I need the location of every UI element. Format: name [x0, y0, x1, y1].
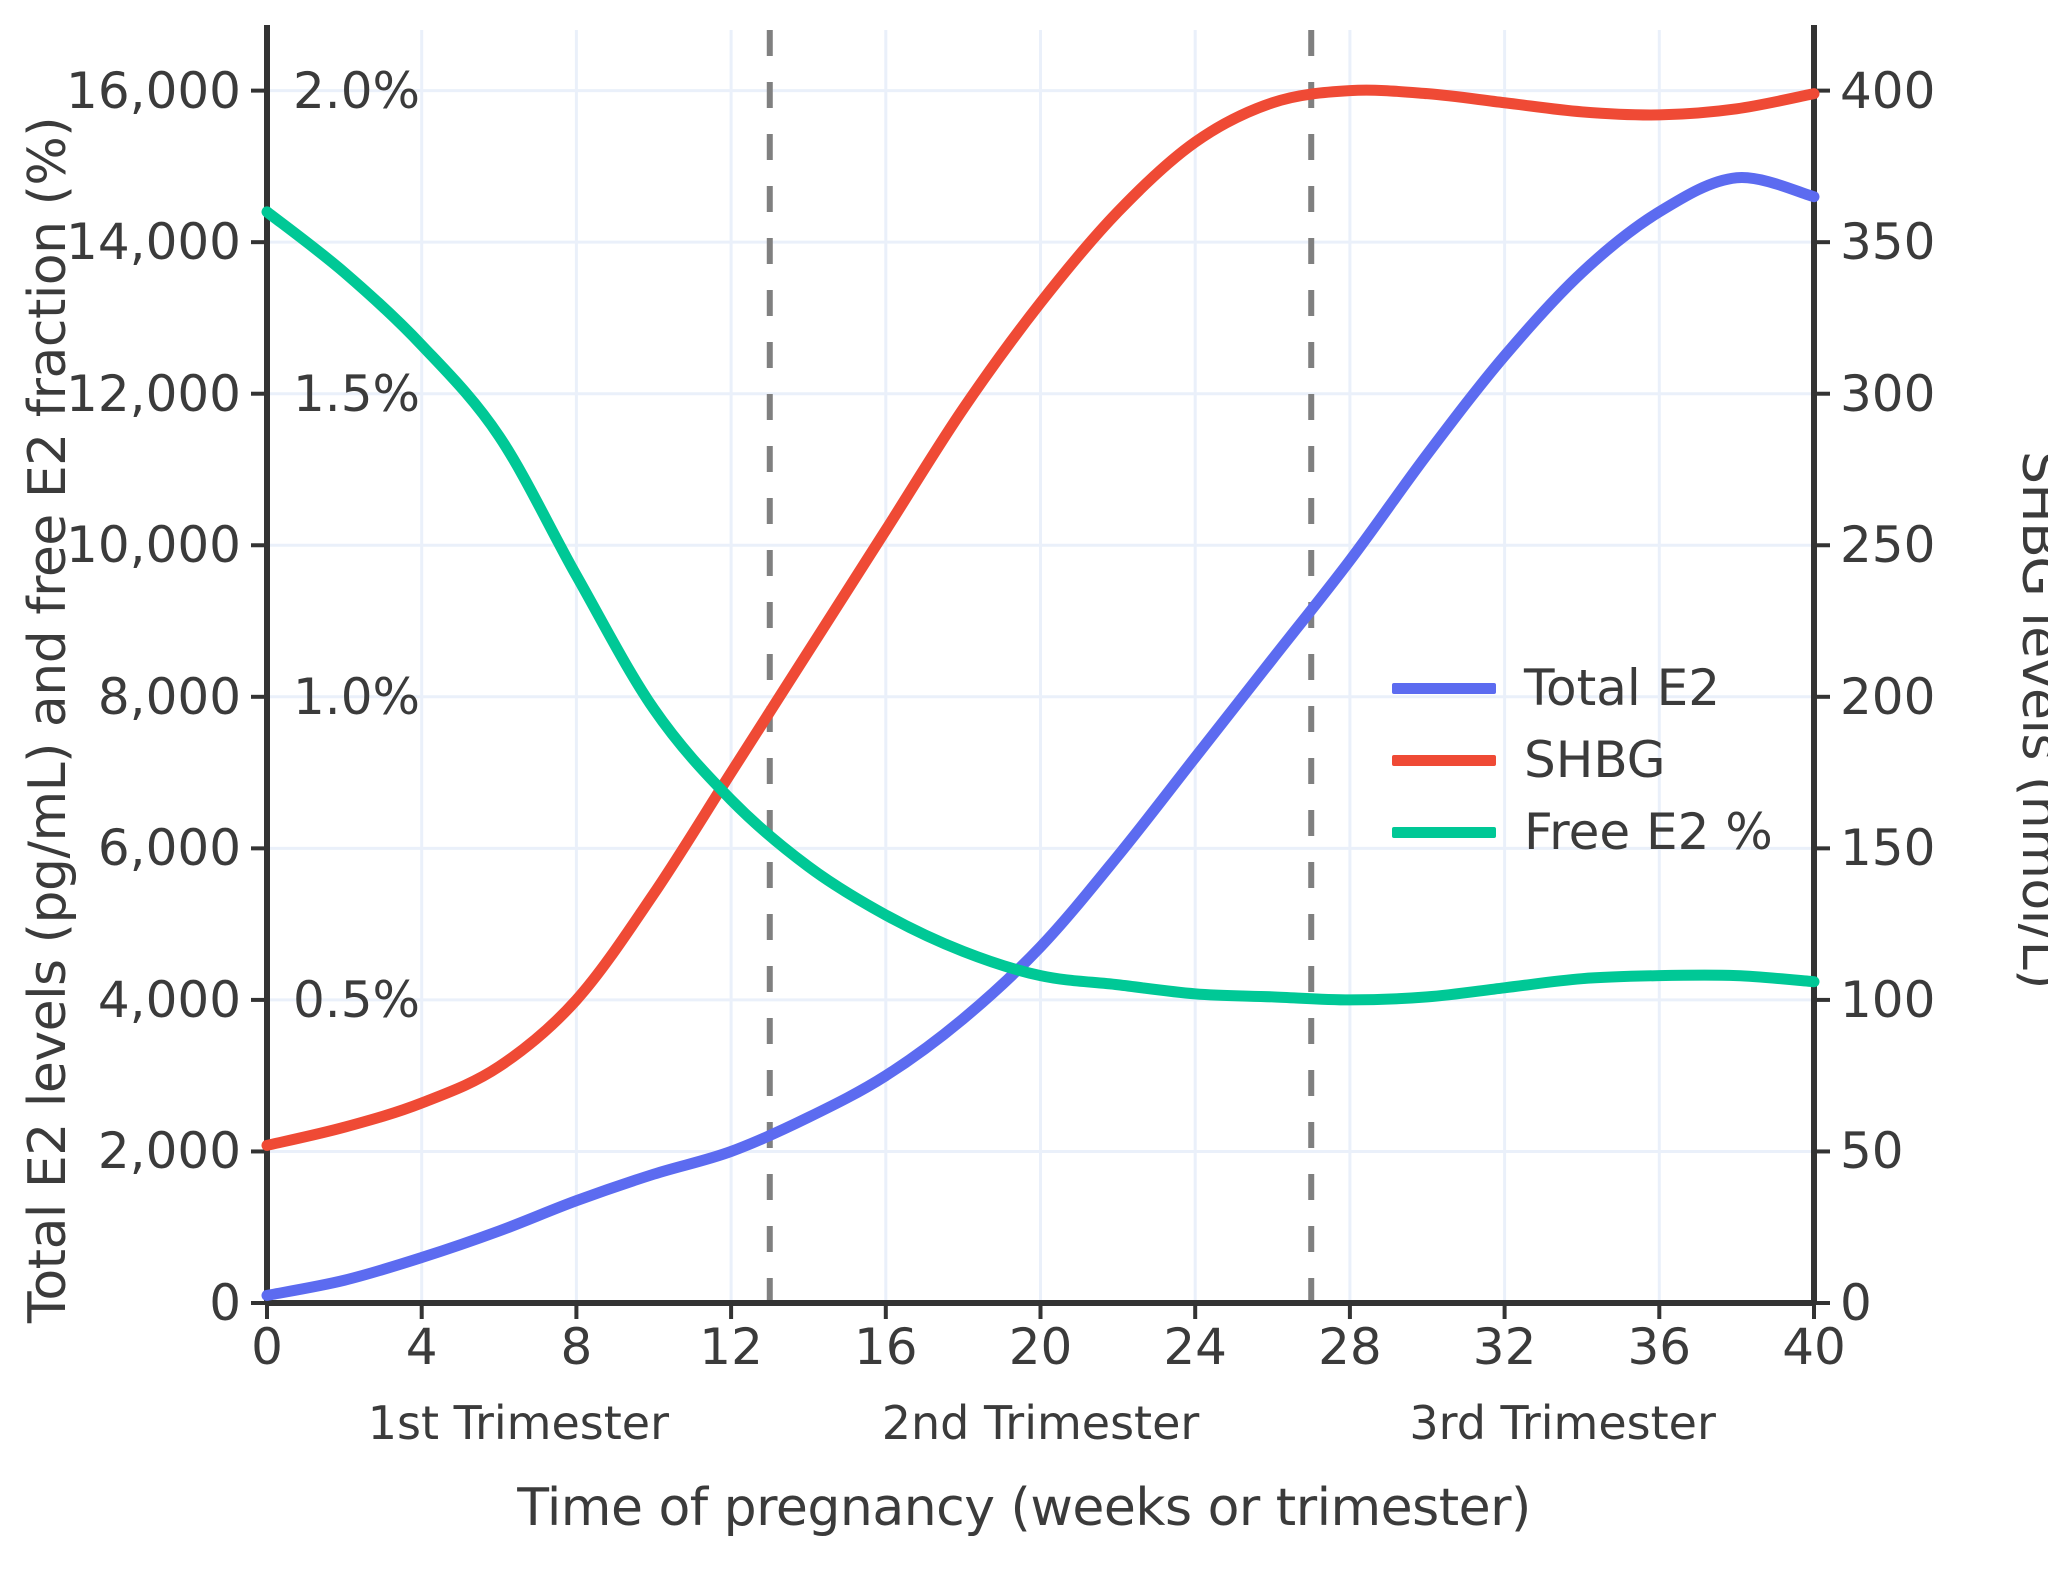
legend-item-shbg[interactable]: SHBG: [1392, 724, 1773, 796]
y-axis-right-tick-label: 350: [1840, 213, 1935, 271]
legend-label-free-e2: Free E2 %: [1524, 803, 1773, 861]
y-axis-right-tick-label: 250: [1840, 516, 1935, 574]
x-axis-tick-label: 40: [1782, 1318, 1846, 1376]
y-axis-right-title: SHBG levels (nmol/L): [2010, 60, 2048, 1380]
y-axis-left-tick-label: 16,000: [66, 62, 241, 120]
legend-label-total-e2: Total E2: [1524, 659, 1720, 717]
chart-container: Total E2 levels (pg/mL) and free E2 frac…: [0, 0, 2048, 1582]
x-axis-tick-label: 4: [406, 1318, 438, 1376]
x-axis-tick-label: 20: [1009, 1318, 1073, 1376]
percent-axis-label: 1.0%: [293, 668, 420, 726]
y-axis-left-tick-label: 6,000: [98, 819, 241, 877]
legend-item-free-e2[interactable]: Free E2 %: [1392, 796, 1773, 868]
trimester-label: 2nd Trimester: [882, 1396, 1200, 1450]
legend-swatch-free-e2: [1392, 827, 1496, 838]
y-axis-left-tick-label: 14,000: [66, 213, 241, 271]
x-axis-tick-label: 0: [251, 1318, 283, 1376]
y-axis-left-tick-label: 0: [209, 1274, 241, 1332]
chart-legend: Total E2 SHBG Free E2 %: [1392, 652, 1773, 868]
percent-axis-label: 1.5%: [293, 365, 420, 423]
y-axis-right-tick-label: 150: [1840, 819, 1935, 877]
y-axis-left-tick-label: 4,000: [98, 971, 241, 1029]
trimester-label: 1st Trimester: [368, 1396, 669, 1450]
y-axis-right-tick-label: 100: [1840, 971, 1935, 1029]
y-axis-right-tick-label: 50: [1840, 1122, 1904, 1180]
x-axis-tick-label: 12: [699, 1318, 763, 1376]
y-axis-left-tick-label: 12,000: [66, 365, 241, 423]
x-axis-tick-label: 24: [1163, 1318, 1227, 1376]
percent-axis-label: 0.5%: [293, 971, 420, 1029]
percent-axis-label: 2.0%: [293, 62, 420, 120]
x-axis-tick-label: 32: [1473, 1318, 1537, 1376]
x-axis-title: Time of pregnancy (weeks or trimester): [0, 1478, 2048, 1538]
legend-swatch-shbg: [1392, 755, 1496, 766]
x-axis-tick-label: 8: [560, 1318, 592, 1376]
legend-item-total-e2[interactable]: Total E2: [1392, 652, 1773, 724]
y-axis-right-tick-label: 400: [1840, 62, 1935, 120]
y-axis-right-tick-label: 300: [1840, 365, 1935, 423]
y-axis-left-tick-label: 10,000: [66, 516, 241, 574]
legend-label-shbg: SHBG: [1524, 731, 1666, 789]
x-axis-tick-label: 28: [1318, 1318, 1382, 1376]
legend-swatch-total-e2: [1392, 683, 1496, 694]
x-axis-tick-label: 36: [1627, 1318, 1691, 1376]
x-axis-tick-label: 16: [854, 1318, 918, 1376]
trimester-label: 3rd Trimester: [1409, 1396, 1716, 1450]
y-axis-left-tick-label: 8,000: [98, 668, 241, 726]
y-axis-right-tick-label: 200: [1840, 668, 1935, 726]
y-axis-left-tick-label: 2,000: [98, 1122, 241, 1180]
